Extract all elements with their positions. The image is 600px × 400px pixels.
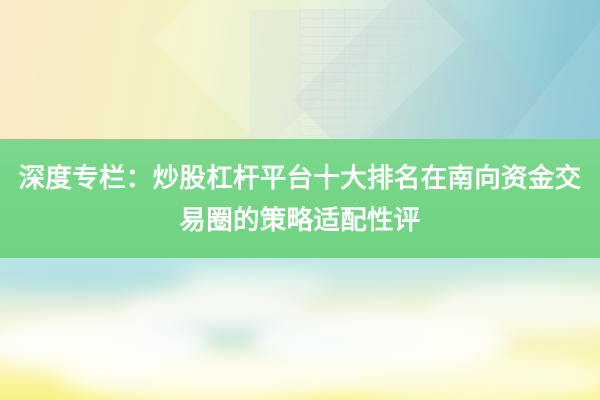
bottom-sky-panel	[0, 258, 600, 400]
top-decorative-panel	[0, 0, 600, 140]
sky-wisp-left	[0, 260, 190, 294]
banner-title: 深度专栏：炒股杠杆平台十大排名在南向资金交易圈的策略适配性评	[8, 157, 592, 241]
cloud-shape	[430, 284, 600, 332]
cloud-shape	[330, 354, 600, 400]
cloud-shape	[60, 350, 360, 400]
rhombus-shape-small	[293, 0, 548, 140]
triangle-shape-left	[250, 10, 420, 140]
paper-texture-overlay	[300, 8, 570, 136]
cloud-shape	[180, 270, 330, 300]
article-banner: 深度专栏：炒股杠杆平台十大排名在南向资金交易圈的策略适配性评	[0, 0, 600, 400]
triangle-shape-right	[490, 0, 600, 140]
title-band: 深度专栏：炒股杠杆平台十大排名在南向资金交易圈的策略适配性评	[0, 139, 600, 258]
rhombus-shape-large	[154, 0, 465, 140]
diagonal-highlight-shape	[300, 0, 600, 140]
sky-wisp-center	[120, 326, 420, 356]
